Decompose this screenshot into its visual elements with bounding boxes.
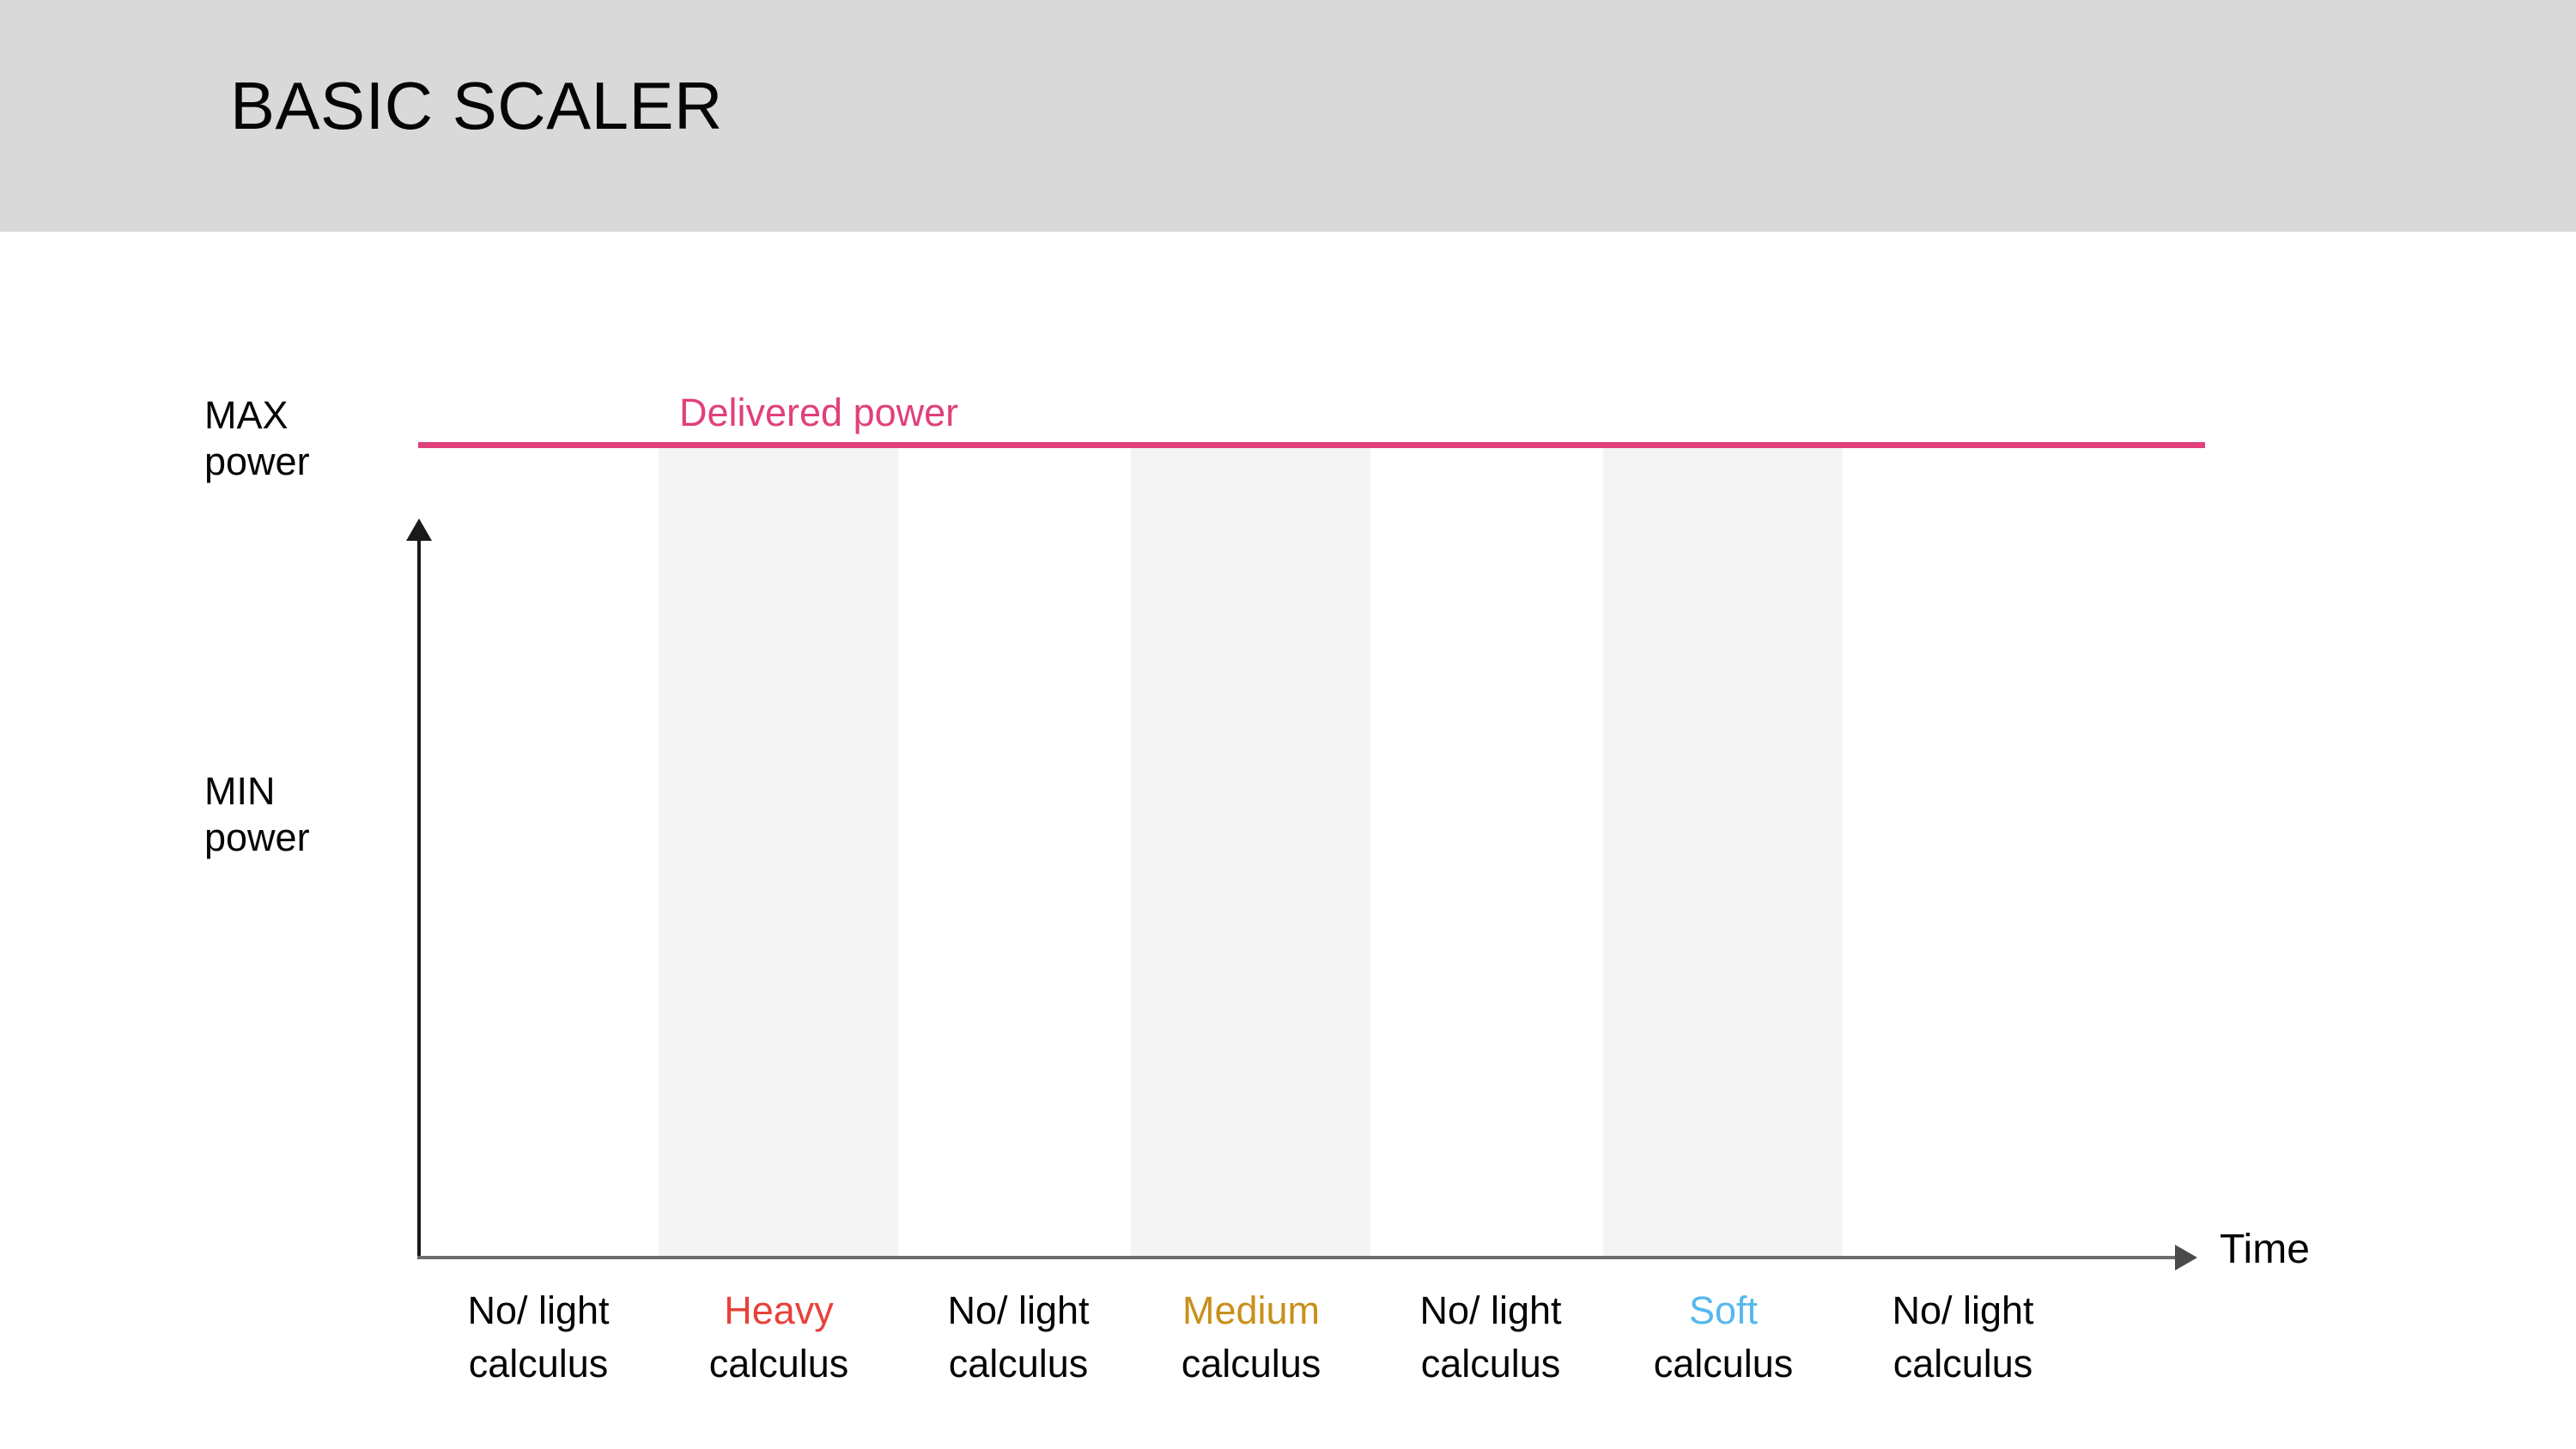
- x-axis-category-label-bottom: calculus: [659, 1337, 899, 1391]
- y-axis-label-min-line2: power: [204, 815, 310, 859]
- page-title: BASIC SCALER: [230, 67, 723, 144]
- x-axis-title: Time: [2220, 1225, 2310, 1275]
- y-axis-label-max-line1: MAX: [204, 393, 289, 437]
- x-axis-category-label-top: No/ light: [1370, 1284, 1611, 1337]
- shaded-band: [659, 448, 898, 1256]
- x-axis-arrow-icon: [2175, 1245, 2197, 1270]
- x-axis-category-label-bottom: calculus: [1370, 1337, 1611, 1391]
- x-axis-category-label-top: No/ light: [1843, 1284, 2083, 1337]
- x-axis-category-label-bottom: calculus: [898, 1337, 1139, 1391]
- x-axis-category-label: Heavycalculus: [659, 1284, 899, 1391]
- x-axis-category-label: No/ lightcalculus: [418, 1284, 659, 1391]
- delivered-power-line: [418, 442, 2205, 448]
- x-axis-category-label-bottom: calculus: [1131, 1337, 1371, 1391]
- x-axis-category-label: Mediumcalculus: [1131, 1284, 1371, 1391]
- x-axis-category-label: No/ lightcalculus: [1843, 1284, 2083, 1391]
- y-axis-label-max: MAX power: [204, 392, 410, 485]
- x-axis-category-label-bottom: calculus: [1603, 1337, 1844, 1391]
- x-axis-category-label-top: Medium: [1131, 1284, 1371, 1337]
- x-axis-line: [417, 1256, 2182, 1259]
- x-axis-category-label: Softcalculus: [1603, 1284, 1844, 1391]
- y-axis-label-min: MIN power: [204, 768, 410, 861]
- x-axis-category-label-bottom: calculus: [1843, 1337, 2083, 1391]
- y-axis-arrow-icon: [406, 518, 432, 541]
- x-axis-category-label-top: No/ light: [418, 1284, 659, 1337]
- x-axis-category-label-top: Heavy: [659, 1284, 899, 1337]
- chart-canvas: Delivered power MAX power MIN power Time…: [0, 232, 2576, 1449]
- x-axis-category-label: No/ lightcalculus: [1370, 1284, 1611, 1391]
- y-axis-line: [417, 537, 421, 1259]
- slide-header-band: BASIC SCALER: [0, 0, 2576, 232]
- x-axis-category-label-bottom: calculus: [418, 1337, 659, 1391]
- delivered-power-label: Delivered power: [679, 391, 958, 435]
- x-axis-category-label-top: No/ light: [898, 1284, 1139, 1337]
- shaded-band: [1603, 448, 1843, 1256]
- y-axis-label-min-line1: MIN: [204, 769, 276, 813]
- y-axis-label-max-line2: power: [204, 440, 310, 483]
- x-axis-category-label-top: Soft: [1603, 1284, 1844, 1337]
- shaded-band: [1131, 448, 1370, 1256]
- x-axis-category-label: No/ lightcalculus: [898, 1284, 1139, 1391]
